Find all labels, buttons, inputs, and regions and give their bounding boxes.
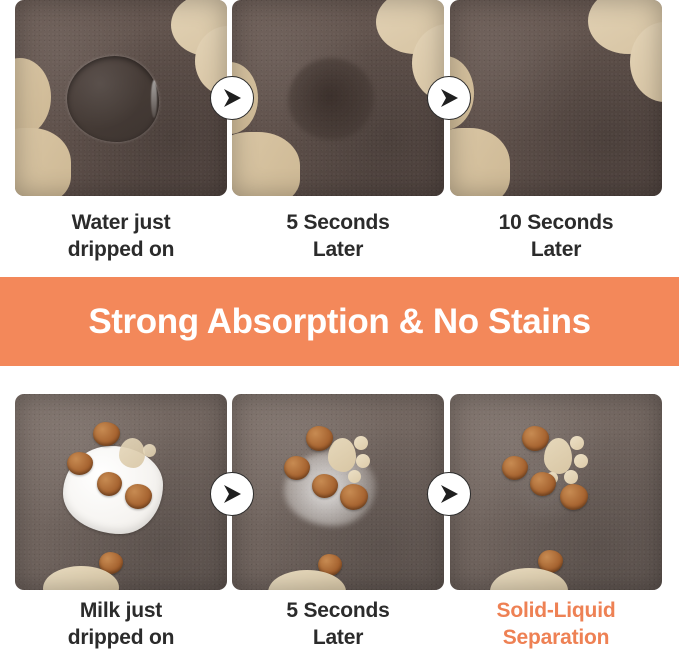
caption-line: dripped on [15,237,227,264]
caption-line: Later [232,237,444,264]
caption-line: 10 Seconds [450,210,662,237]
caption-water-dripped: Water just dripped on [15,210,227,264]
photo-tile-milk-5s [232,394,444,590]
caption-solid-liquid-separation: Solid-Liquid Separation [450,598,662,652]
arrow-right-icon [210,472,254,516]
photo-tile-milk-absorbed [450,394,662,590]
caption-water-10s: 10 Seconds Later [450,210,662,264]
tile-vignette [450,394,662,590]
caption-line: dripped on [15,625,227,652]
caption-line: 5 Seconds [232,598,444,625]
caption-line: Separation [450,625,662,652]
caption-line: Milk just [15,598,227,625]
caption-line: 5 Seconds [232,210,444,237]
headline-banner: Strong Absorption & No Stains [0,277,679,366]
caption-milk-dripped: Milk just dripped on [15,598,227,652]
caption-water-5s: 5 Seconds Later [232,210,444,264]
milk-absorption-row [0,394,679,590]
caption-milk-5s: 5 Seconds Later [232,598,444,652]
photo-tile-milk-dripped [15,394,227,590]
tile-vignette [15,0,227,196]
water-absorption-row [0,0,679,196]
banner-headline: Strong Absorption & No Stains [88,302,590,342]
arrow-right-icon [427,76,471,120]
caption-line: Water just [15,210,227,237]
caption-line: Later [450,237,662,264]
tile-vignette [232,394,444,590]
tile-vignette [450,0,662,196]
tile-vignette [232,0,444,196]
photo-tile-water-dripped [15,0,227,196]
tile-vignette [15,394,227,590]
photo-tile-water-10s [450,0,662,196]
caption-line: Solid-Liquid [450,598,662,625]
arrow-right-icon [427,472,471,516]
product-infographic: Water just dripped on 5 Seconds Later 10… [0,0,679,655]
caption-line: Later [232,625,444,652]
arrow-right-icon [210,76,254,120]
photo-tile-water-5s [232,0,444,196]
